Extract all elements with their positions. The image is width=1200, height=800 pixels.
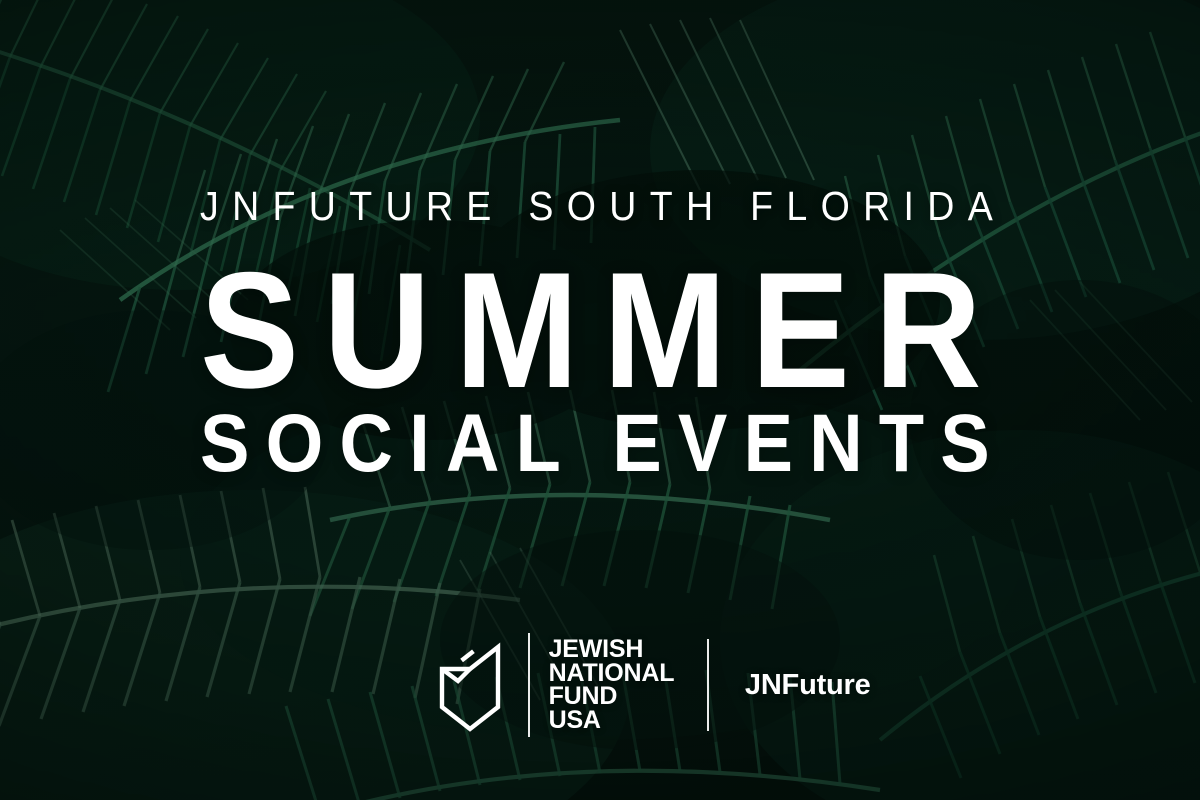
subtitle-social-events: SOCIAL EVENTS (200, 403, 929, 475)
main-title-summer: SUMMER (200, 248, 925, 381)
jnf-wordmark: JEWISH NATIONAL FUND USA (549, 638, 675, 732)
eyebrow-text: JNFUTURE SOUTH FLORIDA (200, 186, 937, 232)
logo-lockup: JEWISH NATIONAL FUND USA JNFuture (438, 632, 871, 738)
logo-divider-rule-left (528, 633, 530, 737)
jnf-wordmark-line-3: FUND (549, 685, 675, 709)
jnf-wordmark-line-1: JEWISH (549, 638, 675, 662)
jnfuture-subbrand-wordmark: JNFuture (745, 669, 871, 702)
jnf-shield-icon (438, 637, 512, 733)
headline-block: JNFUTURE SOUTH FLORIDA SUMMER SOCIAL EVE… (200, 186, 1006, 475)
logo-divider-rule-right (707, 639, 709, 731)
poster-canvas: JNFUTURE SOUTH FLORIDA SUMMER SOCIAL EVE… (0, 0, 1200, 800)
jnf-wordmark-line-4: USA (549, 709, 675, 733)
